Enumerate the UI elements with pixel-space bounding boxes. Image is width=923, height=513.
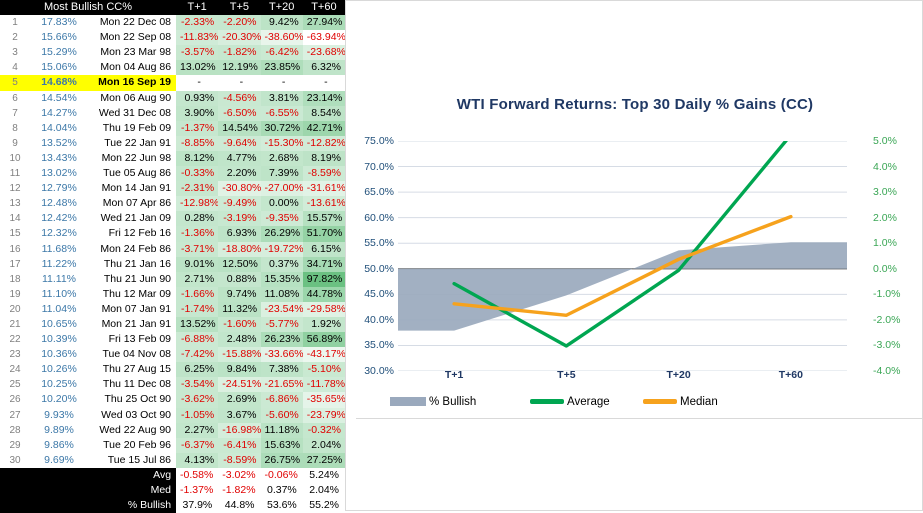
row-return-t5: 9.84%: [218, 362, 260, 377]
row-rank: 20: [0, 302, 30, 317]
row-return-t5: -9.64%: [218, 136, 260, 151]
table-header: Most Bullish CC% T+1 T+5 T+20 T+60: [0, 0, 345, 15]
row-return-t5: 2.69%: [218, 392, 260, 407]
row-rank: 1: [0, 15, 30, 30]
row-return-t5: -4.56%: [218, 91, 260, 106]
y-axis-left-tick: 50.0%: [364, 263, 394, 275]
row-return-t1: -3.71%: [176, 242, 218, 257]
table-row[interactable]: 289.89%Wed 22 Aug 902.27%-16.98%11.18%-0…: [0, 423, 345, 438]
summary-value: -0.06%: [261, 468, 303, 483]
row-date: Tue 20 Feb 96: [88, 438, 176, 453]
row-return-t20: 15.35%: [261, 272, 303, 287]
row-return-t20: -27.00%: [261, 181, 303, 196]
row-return-t20: 0.37%: [261, 257, 303, 272]
row-date: Mon 23 Mar 98: [88, 45, 176, 60]
row-cc-percent: 11.68%: [30, 242, 88, 257]
row-return-t1: 2.27%: [176, 423, 218, 438]
legend-label: % Bullish: [429, 396, 476, 408]
row-rank: 7: [0, 106, 30, 121]
summary-value: 5.24%: [303, 468, 345, 483]
row-return-t5: -8.59%: [218, 453, 260, 468]
row-date: Mon 22 Sep 08: [88, 30, 176, 45]
table-row[interactable]: 2610.20%Thu 25 Oct 90-3.62%2.69%-6.86%-3…: [0, 392, 345, 407]
row-date: Thu 21 Jun 90: [88, 272, 176, 287]
row-cc-percent: 14.54%: [30, 91, 88, 106]
table-row[interactable]: 309.69%Tue 15 Jul 864.13%-8.59%26.75%27.…: [0, 453, 345, 468]
y-axis-right: -4.0%-3.0%-2.0%-1.0%0.0%1.0%2.0%3.0%4.0%…: [849, 141, 919, 371]
table-row[interactable]: 2310.36%Tue 04 Nov 08-7.42%-15.88%-33.66…: [0, 347, 345, 362]
x-axis: T+1T+5T+20T+60: [398, 369, 847, 387]
table-row[interactable]: 2210.39%Fri 13 Feb 09-6.88%2.48%26.23%56…: [0, 332, 345, 347]
row-cc-percent: 10.39%: [30, 332, 88, 347]
row-cc-percent: 14.27%: [30, 106, 88, 121]
row-return-t60: -29.58%: [303, 302, 345, 317]
y-axis-right-tick: 3.0%: [873, 186, 897, 198]
y-axis-left-tick: 70.0%: [364, 161, 394, 173]
row-rank: 6: [0, 91, 30, 106]
row-return-t20: -9.35%: [261, 211, 303, 226]
row-return-t1: 13.02%: [176, 60, 218, 75]
row-rank: 5: [0, 75, 30, 90]
row-return-t1: -2.33%: [176, 15, 218, 30]
row-return-t60: -5.10%: [303, 362, 345, 377]
row-date: Fri 13 Feb 09: [88, 332, 176, 347]
row-rank: 9: [0, 136, 30, 151]
row-date: Mon 24 Feb 86: [88, 242, 176, 257]
row-cc-percent: 17.83%: [30, 15, 88, 30]
chart-legend: % BullishAverageMedian: [390, 391, 740, 417]
row-return-t5: -18.80%: [218, 242, 260, 257]
row-return-t1: -1.37%: [176, 121, 218, 136]
row-return-t20: 26.75%: [261, 453, 303, 468]
table-row[interactable]: 1512.32%Fri 12 Feb 16-1.36%6.93%26.29%51…: [0, 226, 345, 241]
summary-label: Avg: [0, 468, 176, 483]
row-cc-percent: 11.11%: [30, 272, 88, 287]
row-return-t20: -6.55%: [261, 106, 303, 121]
row-return-t20: 26.23%: [261, 332, 303, 347]
header-row: Most Bullish CC% T+1 T+5 T+20 T+60: [0, 0, 345, 15]
row-return-t1: -2.31%: [176, 181, 218, 196]
row-return-t5: -6.41%: [218, 438, 260, 453]
row-rank: 12: [0, 181, 30, 196]
row-date: Mon 22 Jun 98: [88, 151, 176, 166]
row-return-t1: -7.42%: [176, 347, 218, 362]
legend-item-average[interactable]: Average: [530, 391, 610, 413]
row-return-t20: -6.42%: [261, 45, 303, 60]
table-row[interactable]: 2410.26%Thu 27 Aug 156.25%9.84%7.38%-5.1…: [0, 362, 345, 377]
row-return-t5: -2.20%: [218, 15, 260, 30]
row-rank: 17: [0, 257, 30, 272]
table-row[interactable]: 415.06%Mon 04 Aug 8613.02%12.19%23.85%6.…: [0, 60, 345, 75]
plot-area: [398, 141, 847, 371]
row-cc-percent: 11.04%: [30, 302, 88, 317]
row-date: Thu 12 Mar 09: [88, 287, 176, 302]
row-return-t1: 6.25%: [176, 362, 218, 377]
row-cc-percent: 12.48%: [30, 196, 88, 211]
summary-value: -1.82%: [218, 483, 260, 498]
row-date: Wed 31 Dec 08: [88, 106, 176, 121]
row-date: Mon 07 Apr 86: [88, 196, 176, 211]
summary-label: Med: [0, 483, 176, 498]
table-row[interactable]: 1611.68%Mon 24 Feb 86-3.71%-18.80%-19.72…: [0, 242, 345, 257]
row-return-t1: -1.05%: [176, 408, 218, 423]
row-return-t1: -: [176, 75, 218, 90]
table-row[interactable]: 117.83%Mon 22 Dec 08-2.33%-2.20%9.42%27.…: [0, 15, 345, 30]
row-return-t1: -6.88%: [176, 332, 218, 347]
row-return-t60: 42.71%: [303, 121, 345, 136]
row-return-t20: -5.60%: [261, 408, 303, 423]
row-cc-percent: 11.10%: [30, 287, 88, 302]
row-cc-percent: 10.26%: [30, 362, 88, 377]
row-return-t60: -23.79%: [303, 408, 345, 423]
row-return-t1: -1.66%: [176, 287, 218, 302]
row-date: Mon 22 Dec 08: [88, 15, 176, 30]
row-return-t5: 9.74%: [218, 287, 260, 302]
row-return-t5: -1.60%: [218, 317, 260, 332]
row-return-t5: -16.98%: [218, 423, 260, 438]
row-return-t1: 9.01%: [176, 257, 218, 272]
legend-divider: [356, 418, 923, 419]
row-return-t60: -0.32%: [303, 423, 345, 438]
row-date: Thu 25 Oct 90: [88, 392, 176, 407]
y-axis-left-tick: 40.0%: [364, 314, 394, 326]
table-row[interactable]: 2110.65%Mon 21 Jan 9113.52%-1.60%-5.77%1…: [0, 317, 345, 332]
legend-swatch-icon: [643, 399, 677, 404]
row-rank: 23: [0, 347, 30, 362]
row-return-t1: 8.12%: [176, 151, 218, 166]
row-return-t20: 15.63%: [261, 438, 303, 453]
row-date: Wed 21 Jan 09: [88, 211, 176, 226]
row-return-t20: 3.81%: [261, 91, 303, 106]
row-rank: 11: [0, 166, 30, 181]
row-rank: 10: [0, 151, 30, 166]
row-return-t20: 11.18%: [261, 423, 303, 438]
row-return-t5: 4.77%: [218, 151, 260, 166]
row-return-t1: -1.36%: [176, 226, 218, 241]
row-return-t1: -8.85%: [176, 136, 218, 151]
row-rank: 3: [0, 45, 30, 60]
table-row[interactable]: 1312.48%Mon 07 Apr 86-12.98%-9.49%0.00%-…: [0, 196, 345, 211]
row-return-t60: 6.32%: [303, 60, 345, 75]
row-return-t5: 2.48%: [218, 332, 260, 347]
table-row[interactable]: 299.86%Tue 20 Feb 96-6.37%-6.41%15.63%2.…: [0, 438, 345, 453]
row-return-t5: 12.50%: [218, 257, 260, 272]
y-axis-right-tick: 2.0%: [873, 212, 897, 224]
row-date: Tue 05 Aug 86: [88, 166, 176, 181]
row-return-t5: 6.93%: [218, 226, 260, 241]
row-return-t20: 2.68%: [261, 151, 303, 166]
x-axis-tick-t5: T+5: [557, 369, 575, 381]
row-return-t1: -6.37%: [176, 438, 218, 453]
table-row[interactable]: 714.27%Wed 31 Dec 083.90%-6.50%-6.55%8.5…: [0, 106, 345, 121]
summary-value: 0.37%: [261, 483, 303, 498]
row-return-t1: 3.90%: [176, 106, 218, 121]
row-cc-percent: 14.68%: [30, 75, 88, 90]
header-col-t60: T+60: [303, 0, 345, 15]
row-return-t1: 0.93%: [176, 91, 218, 106]
row-cc-percent: 10.65%: [30, 317, 88, 332]
row-rank: 4: [0, 60, 30, 75]
row-return-t5: -20.30%: [218, 30, 260, 45]
table-row[interactable]: 1911.10%Thu 12 Mar 09-1.66%9.74%11.08%44…: [0, 287, 345, 302]
row-return-t5: -9.49%: [218, 196, 260, 211]
table-row[interactable]: 1811.11%Thu 21 Jun 902.71%0.88%15.35%97.…: [0, 272, 345, 287]
row-rank: 18: [0, 272, 30, 287]
table-row[interactable]: 2510.25%Thu 11 Dec 08-3.54%-24.51%-21.65…: [0, 377, 345, 392]
row-cc-percent: 15.29%: [30, 45, 88, 60]
table-row[interactable]: 913.52%Tue 22 Jan 91-8.85%-9.64%-15.30%-…: [0, 136, 345, 151]
summary-row: Avg-0.58%-3.02%-0.06%5.24%: [0, 468, 345, 483]
header-col-t1: T+1: [176, 0, 218, 15]
chart-panel: WTI Forward Returns: Top 30 Daily % Gain…: [345, 0, 923, 511]
row-return-t5: -30.80%: [218, 181, 260, 196]
row-return-t5: -3.19%: [218, 211, 260, 226]
row-rank: 13: [0, 196, 30, 211]
row-return-t60: 8.19%: [303, 151, 345, 166]
header-col-t5: T+5: [218, 0, 260, 15]
row-cc-percent: 10.36%: [30, 347, 88, 362]
y-axis-left-tick: 55.0%: [364, 237, 394, 249]
chart-title: WTI Forward Returns: Top 30 Daily % Gain…: [346, 96, 923, 113]
most-bullish-table-panel: Most Bullish CC% T+1 T+5 T+20 T+60 117.8…: [0, 0, 345, 511]
row-date: Thu 21 Jan 16: [88, 257, 176, 272]
table-row[interactable]: 279.93%Wed 03 Oct 90-1.05%3.67%-5.60%-23…: [0, 408, 345, 423]
row-return-t20: 30.72%: [261, 121, 303, 136]
legend-item-median[interactable]: Median: [643, 391, 718, 413]
row-rank: 21: [0, 317, 30, 332]
table-row[interactable]: 215.66%Mon 22 Sep 08-11.83%-20.30%-38.60…: [0, 30, 345, 45]
row-cc-percent: 15.66%: [30, 30, 88, 45]
row-return-t60: -43.17%: [303, 347, 345, 362]
plot-wrap: 30.0%35.0%40.0%45.0%50.0%55.0%60.0%65.0%…: [346, 141, 923, 371]
row-return-t60: -12.82%: [303, 136, 345, 151]
row-return-t60: 34.71%: [303, 257, 345, 272]
row-cc-percent: 15.06%: [30, 60, 88, 75]
row-return-t60: -8.59%: [303, 166, 345, 181]
row-return-t20: -6.86%: [261, 392, 303, 407]
row-return-t60: -23.68%: [303, 45, 345, 60]
table-row[interactable]: 614.54%Mon 06 Aug 900.93%-4.56%3.81%23.1…: [0, 91, 345, 106]
row-return-t60: -11.78%: [303, 377, 345, 392]
row-return-t20: 7.38%: [261, 362, 303, 377]
x-axis-tick-t60: T+60: [779, 369, 803, 381]
y-axis-left-tick: 30.0%: [364, 365, 394, 377]
y-axis-left-tick: 65.0%: [364, 186, 394, 198]
row-return-t1: -3.57%: [176, 45, 218, 60]
row-return-t60: -13.61%: [303, 196, 345, 211]
row-return-t5: 11.32%: [218, 302, 260, 317]
table-row[interactable]: 1212.79%Mon 14 Jan 91-2.31%-30.80%-27.00…: [0, 181, 345, 196]
row-return-t60: 6.15%: [303, 242, 345, 257]
table-body: 117.83%Mon 22 Dec 08-2.33%-2.20%9.42%27.…: [0, 15, 345, 468]
table-row[interactable]: 1412.42%Wed 21 Jan 090.28%-3.19%-9.35%15…: [0, 211, 345, 226]
row-cc-percent: 10.20%: [30, 392, 88, 407]
row-return-t20: -33.66%: [261, 347, 303, 362]
row-date: Thu 19 Feb 09: [88, 121, 176, 136]
row-cc-percent: 9.69%: [30, 453, 88, 468]
y-axis-left-tick: 60.0%: [364, 212, 394, 224]
row-cc-percent: 12.32%: [30, 226, 88, 241]
row-return-t60: 8.54%: [303, 106, 345, 121]
row-return-t60: 51.70%: [303, 226, 345, 241]
y-axis-left-tick: 45.0%: [364, 288, 394, 300]
y-axis-right-tick: -4.0%: [873, 365, 900, 377]
row-date: Mon 04 Aug 86: [88, 60, 176, 75]
row-return-t60: -: [303, 75, 345, 90]
row-return-t60: -31.61%: [303, 181, 345, 196]
row-return-t60: 27.25%: [303, 453, 345, 468]
row-return-t20: 23.85%: [261, 60, 303, 75]
row-date: Mon 16 Sep 19: [88, 75, 176, 90]
y-axis-left-tick: 75.0%: [364, 135, 394, 147]
y-axis-right-tick: -3.0%: [873, 339, 900, 351]
row-cc-percent: 14.04%: [30, 121, 88, 136]
row-cc-percent: 11.22%: [30, 257, 88, 272]
most-bullish-table: Most Bullish CC% T+1 T+5 T+20 T+60 117.8…: [0, 0, 345, 513]
legend-label: Median: [680, 396, 718, 408]
table-row[interactable]: 2011.04%Mon 07 Jan 91-1.74%11.32%-23.54%…: [0, 302, 345, 317]
row-date: Mon 07 Jan 91: [88, 302, 176, 317]
y-axis-right-tick: 4.0%: [873, 161, 897, 173]
row-rank: 16: [0, 242, 30, 257]
row-cc-percent: 13.02%: [30, 166, 88, 181]
summary-value: 2.04%: [303, 483, 345, 498]
x-axis-tick-t1: T+1: [445, 369, 463, 381]
row-return-t20: 11.08%: [261, 287, 303, 302]
row-return-t5: -6.50%: [218, 106, 260, 121]
row-return-t5: -24.51%: [218, 377, 260, 392]
row-return-t1: 0.28%: [176, 211, 218, 226]
table-row[interactable]: 514.68%Mon 16 Sep 19----: [0, 75, 345, 90]
row-rank: 2: [0, 30, 30, 45]
table-row[interactable]: 1013.43%Mon 22 Jun 988.12%4.77%2.68%8.19…: [0, 151, 345, 166]
header-title: Most Bullish CC%: [0, 0, 176, 15]
row-return-t1: -0.33%: [176, 166, 218, 181]
row-rank: 28: [0, 423, 30, 438]
row-date: Fri 12 Feb 16: [88, 226, 176, 241]
row-date: Mon 06 Aug 90: [88, 91, 176, 106]
row-date: Wed 03 Oct 90: [88, 408, 176, 423]
row-return-t5: -1.82%: [218, 45, 260, 60]
header-col-t20: T+20: [261, 0, 303, 15]
row-rank: 19: [0, 287, 30, 302]
x-axis-tick-t20: T+20: [667, 369, 691, 381]
row-return-t60: 2.04%: [303, 438, 345, 453]
table-row[interactable]: 1113.02%Tue 05 Aug 86-0.33%2.20%7.39%-8.…: [0, 166, 345, 181]
row-rank: 27: [0, 408, 30, 423]
row-return-t20: -5.77%: [261, 317, 303, 332]
legend-item-bullish[interactable]: % Bullish: [390, 391, 476, 413]
row-cc-percent: 9.86%: [30, 438, 88, 453]
row-return-t5: 0.88%: [218, 272, 260, 287]
row-return-t60: 1.92%: [303, 317, 345, 332]
row-cc-percent: 12.79%: [30, 181, 88, 196]
legend-swatch-icon: [390, 397, 426, 406]
table-row[interactable]: 315.29%Mon 23 Mar 98-3.57%-1.82%-6.42%-2…: [0, 45, 345, 60]
row-return-t1: -3.54%: [176, 377, 218, 392]
row-date: Tue 22 Jan 91: [88, 136, 176, 151]
row-return-t60: -63.94%: [303, 30, 345, 45]
row-return-t20: -19.72%: [261, 242, 303, 257]
summary-row: Med-1.37%-1.82%0.37%2.04%: [0, 483, 345, 498]
row-cc-percent: 10.25%: [30, 377, 88, 392]
row-date: Wed 22 Aug 90: [88, 423, 176, 438]
row-date: Tue 04 Nov 08: [88, 347, 176, 362]
table-footer: Avg-0.58%-3.02%-0.06%5.24%Med-1.37%-1.82…: [0, 468, 345, 513]
table-row[interactable]: 814.04%Thu 19 Feb 09-1.37%14.54%30.72%42…: [0, 121, 345, 136]
row-date: Mon 21 Jan 91: [88, 317, 176, 332]
row-return-t20: -38.60%: [261, 30, 303, 45]
row-cc-percent: 12.42%: [30, 211, 88, 226]
row-rank: 24: [0, 362, 30, 377]
row-date: Tue 15 Jul 86: [88, 453, 176, 468]
row-return-t5: -: [218, 75, 260, 90]
y-axis-right-tick: 1.0%: [873, 237, 897, 249]
row-return-t1: -12.98%: [176, 196, 218, 211]
row-rank: 14: [0, 211, 30, 226]
summary-value: -3.02%: [218, 468, 260, 483]
row-return-t1: 4.13%: [176, 453, 218, 468]
row-return-t60: -35.65%: [303, 392, 345, 407]
y-axis-right-tick: 0.0%: [873, 263, 897, 275]
row-return-t60: 23.14%: [303, 91, 345, 106]
row-return-t1: 2.71%: [176, 272, 218, 287]
row-rank: 8: [0, 121, 30, 136]
table-row[interactable]: 1711.22%Thu 21 Jan 169.01%12.50%0.37%34.…: [0, 257, 345, 272]
row-cc-percent: 9.93%: [30, 408, 88, 423]
row-return-t1: -11.83%: [176, 30, 218, 45]
row-rank: 26: [0, 392, 30, 407]
row-return-t20: -: [261, 75, 303, 90]
row-rank: 22: [0, 332, 30, 347]
chart-svg: [398, 141, 847, 371]
legend-label: Average: [567, 396, 610, 408]
row-return-t20: 7.39%: [261, 166, 303, 181]
row-date: Mon 14 Jan 91: [88, 181, 176, 196]
row-return-t60: 15.57%: [303, 211, 345, 226]
row-cc-percent: 9.89%: [30, 423, 88, 438]
row-rank: 30: [0, 453, 30, 468]
row-return-t1: -1.74%: [176, 302, 218, 317]
y-axis-right-tick: -2.0%: [873, 314, 900, 326]
row-return-t20: 26.29%: [261, 226, 303, 241]
row-return-t60: 44.78%: [303, 287, 345, 302]
row-rank: 15: [0, 226, 30, 241]
row-cc-percent: 13.52%: [30, 136, 88, 151]
y-axis-right-tick: -1.0%: [873, 288, 900, 300]
y-axis-right-tick: 5.0%: [873, 135, 897, 147]
row-return-t5: 3.67%: [218, 408, 260, 423]
row-return-t5: 2.20%: [218, 166, 260, 181]
y-axis-left: 30.0%35.0%40.0%45.0%50.0%55.0%60.0%65.0%…: [346, 141, 394, 371]
row-return-t60: 97.82%: [303, 272, 345, 287]
row-return-t20: -15.30%: [261, 136, 303, 151]
row-cc-percent: 13.43%: [30, 151, 88, 166]
summary-value: -0.58%: [176, 468, 218, 483]
row-return-t1: -3.62%: [176, 392, 218, 407]
row-return-t20: -23.54%: [261, 302, 303, 317]
summary-value: -1.37%: [176, 483, 218, 498]
row-rank: 29: [0, 438, 30, 453]
row-return-t1: 13.52%: [176, 317, 218, 332]
row-return-t5: 12.19%: [218, 60, 260, 75]
row-return-t60: 27.94%: [303, 15, 345, 30]
y-axis-left-tick: 35.0%: [364, 339, 394, 351]
row-date: Thu 27 Aug 15: [88, 362, 176, 377]
row-return-t5: -15.88%: [218, 347, 260, 362]
row-return-t20: 0.00%: [261, 196, 303, 211]
row-return-t5: 14.54%: [218, 121, 260, 136]
